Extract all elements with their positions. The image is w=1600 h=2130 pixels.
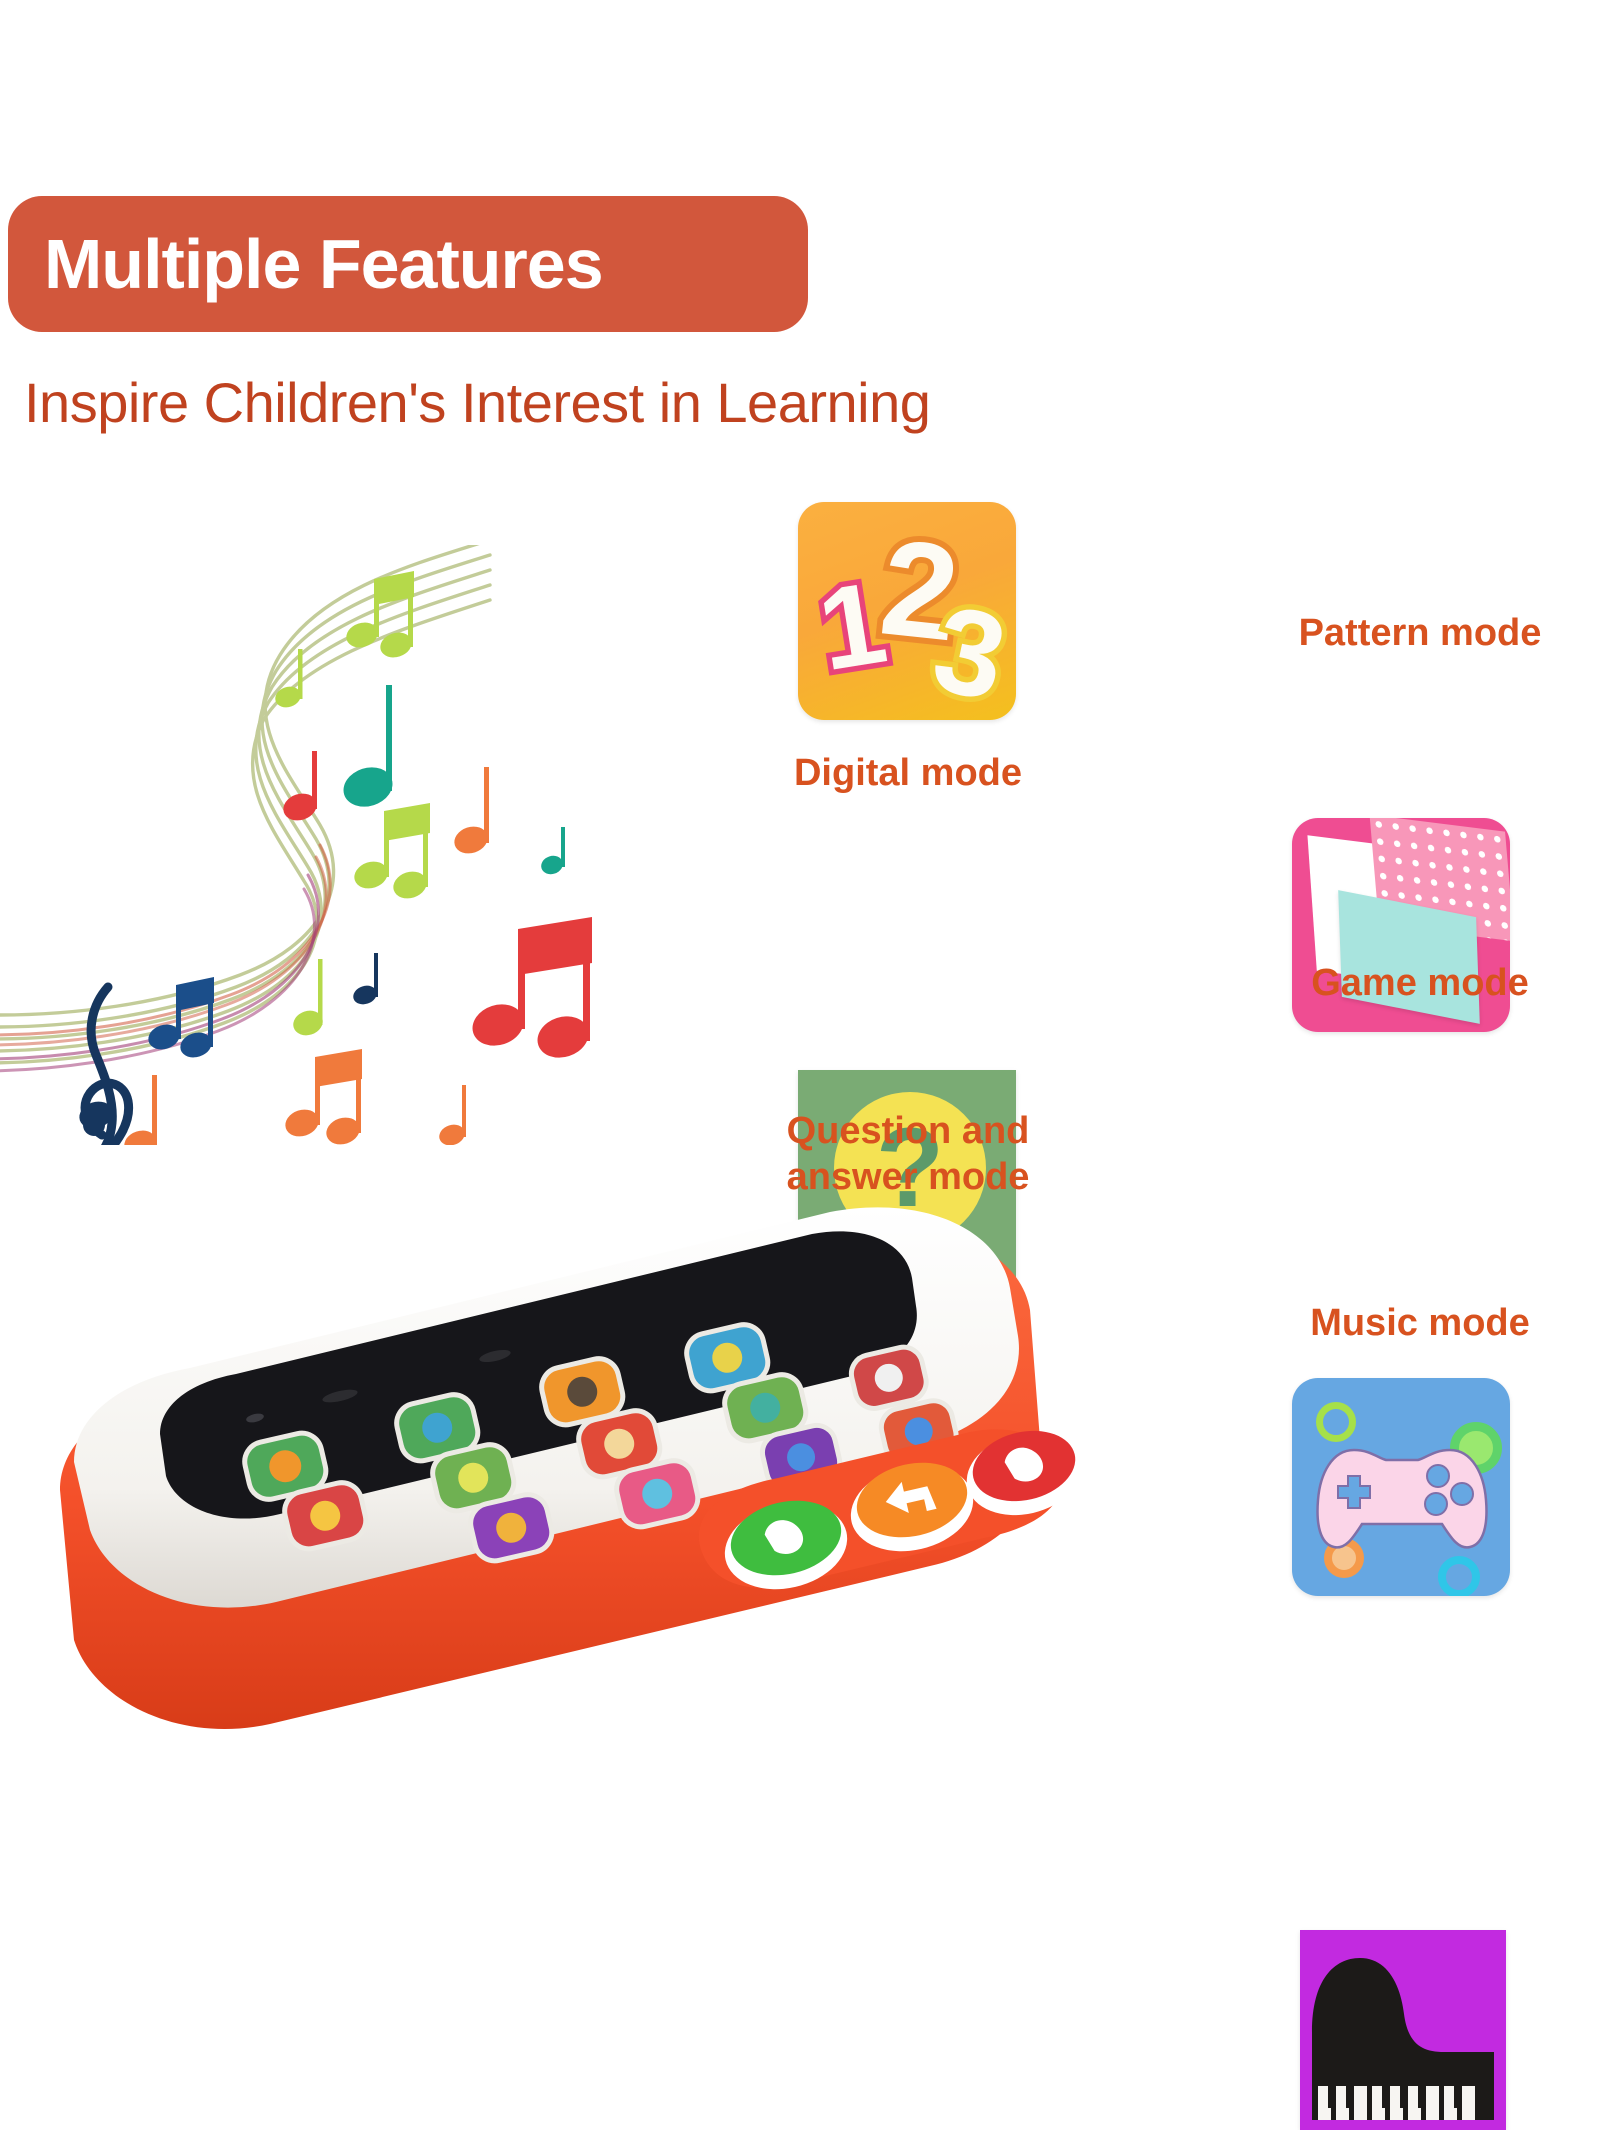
digital-mode-label: Digital mode (720, 750, 1096, 796)
toy-phone-product-image (40, 1190, 1100, 1810)
grand-piano-glyph (1300, 1940, 1494, 2120)
music-mode-label: Music mode (1240, 1300, 1600, 1346)
lime-ring-dot (1316, 1402, 1356, 1442)
game-mode-icon (1292, 1378, 1510, 1596)
page-title: Multiple Features (44, 229, 603, 299)
page-subtitle: Inspire Children's Interest in Learning (24, 372, 930, 434)
cyan-ring-dot (1438, 1556, 1480, 1596)
page-title-banner: Multiple Features (8, 196, 808, 332)
pattern-mode-label: Pattern mode (1240, 610, 1600, 656)
gamepad-icon (1314, 1444, 1490, 1552)
game-mode-label: Game mode (1240, 960, 1600, 1006)
music-mode-icon (1300, 1930, 1506, 2130)
musical-notes-artwork (0, 545, 630, 1145)
digital-mode-icon: 1 2 3 (798, 502, 1016, 720)
question-answer-mode-label: Question and answer mode (700, 1108, 1116, 1201)
